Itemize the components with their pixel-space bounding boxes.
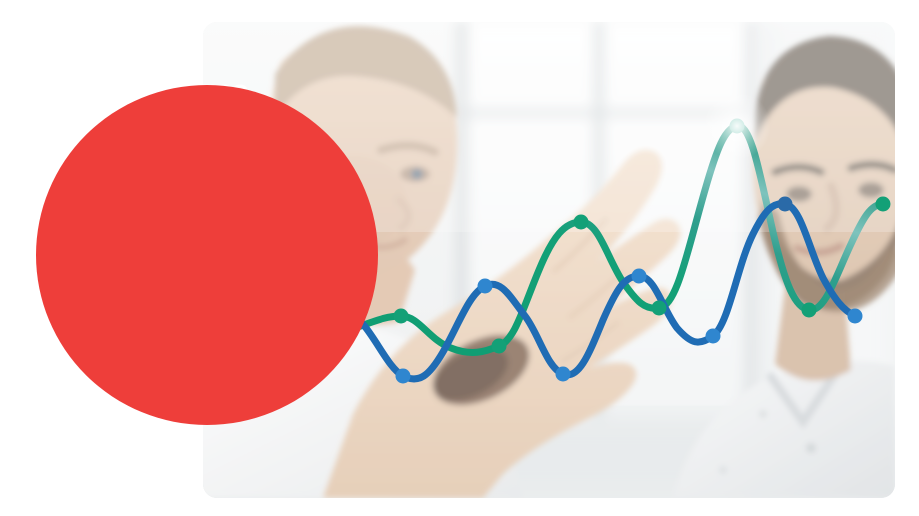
chart-lens-flare xyxy=(703,92,771,160)
slide-root: EL CAOS TÁCTICO DEBILITA EL ACTIVO MÁS V… xyxy=(0,0,919,516)
callout-circle xyxy=(36,85,378,425)
